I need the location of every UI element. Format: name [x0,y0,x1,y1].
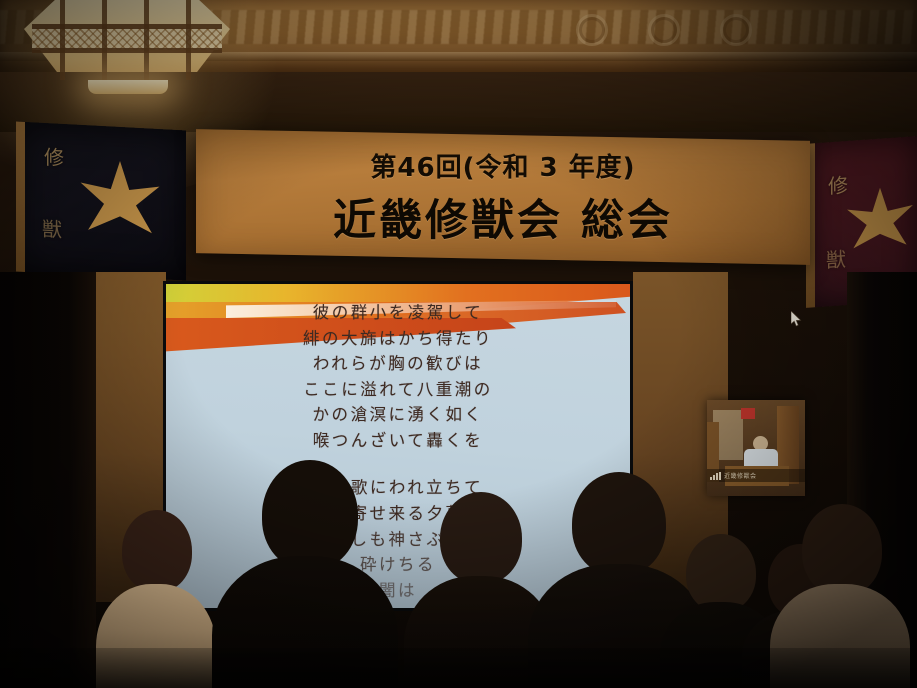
slide-line: ここに溢れて八重潮の [303,377,493,403]
slide-line: 彼の群小を凌駕して [313,300,484,326]
mouse-pointer-icon [791,311,802,327]
presentation-room-photo: 修 獣 修 獣 第46回(令和 3 年度) 近畿修獣会 総会 [0,0,917,688]
pip-logo-icon [741,408,755,419]
frieze-medallion-icon [576,14,608,46]
lamp-rib [60,0,65,80]
cornice-shadow-right [617,0,917,72]
attendee-head [122,510,192,592]
lamp-rib [144,0,149,80]
slide-line: 緋の大旆はかち得たり [303,326,493,352]
banner-left-edge [16,122,25,272]
slide-line: かの滄溟に湧く如く [313,402,484,428]
lamp-rib [102,0,107,80]
banner-left-kanji-1: 修 [44,147,64,168]
event-title-banner: 第46回(令和 3 年度) 近畿修獣会 総会 [196,129,810,265]
attendee-head [572,472,666,576]
event-title-line-2: 近畿修獣会 総会 [333,186,673,248]
foreground-shadow [0,648,917,688]
attendee-head [262,460,358,570]
lamp-base-diffuser [88,80,168,94]
wall-banner-left: 修 獣 [16,126,186,276]
banner-right-kanji-2: 獣 [826,249,846,270]
audience-silhouettes [0,428,917,688]
slide-line: われらが胸の歓びは [313,351,483,377]
pendant-lamp-icon [24,0,230,112]
attendee-head [802,504,882,596]
lamp-rib [186,0,191,80]
banner-left-cloth: 修 獣 [16,122,186,281]
banner-right-kanji-1: 修 [828,175,848,196]
banner-left-kanji-2: 獣 [42,219,62,240]
event-title-line-1: 第46回(令和 3 年度) [370,147,635,184]
attendee-head [440,492,522,584]
